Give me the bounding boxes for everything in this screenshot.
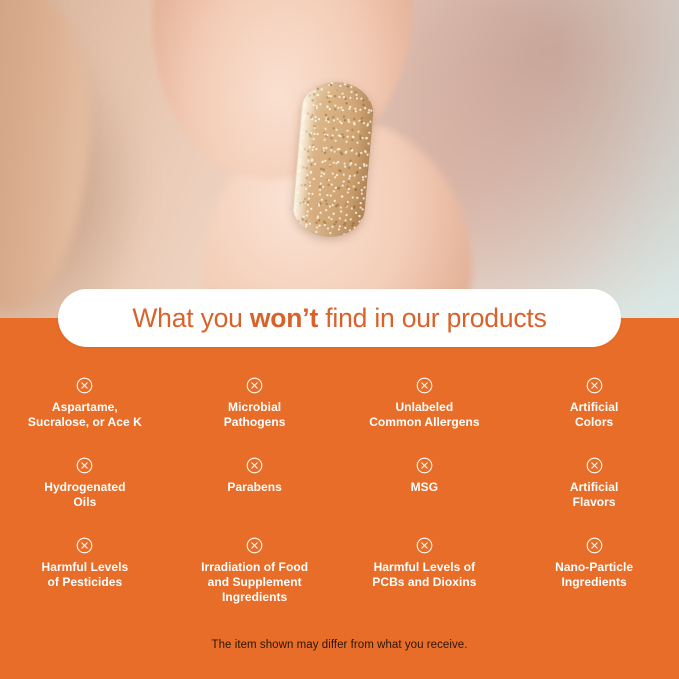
excluded-item-label: MSG (411, 480, 438, 495)
supplement-tablet (290, 79, 375, 240)
excluded-item: Nano-Particle Ingredients (509, 530, 679, 610)
excluded-item: Hydrogenated Oils (0, 450, 170, 530)
excluded-item-label: Aspartame, Sucralose, or Ace K (28, 400, 142, 430)
excluded-item: Microbial Pathogens (170, 370, 340, 450)
x-circle-icon (246, 457, 263, 474)
x-circle-icon (416, 377, 433, 394)
excluded-item: Harmful Levels of Pesticides (0, 530, 170, 610)
excluded-item-label: Harmful Levels of Pesticides (42, 560, 129, 590)
page-title: What you won’t find in our products (132, 303, 546, 334)
excluded-item-label: Parabens (227, 480, 281, 495)
x-circle-icon (76, 377, 93, 394)
x-circle-icon (586, 377, 603, 394)
title-emphasis: won’t (250, 303, 318, 333)
x-circle-icon (246, 377, 263, 394)
excluded-item-label: Harmful Levels of PCBs and Dioxins (372, 560, 476, 590)
x-circle-icon (246, 537, 263, 554)
excluded-item: Irradiation of Food and Supplement Ingre… (170, 530, 340, 610)
excluded-item-label: Hydrogenated Oils (44, 480, 125, 510)
excluded-item: Artificial Flavors (509, 450, 679, 530)
x-circle-icon (586, 457, 603, 474)
product-photo (0, 0, 679, 318)
excluded-item-label: Irradiation of Food and Supplement Ingre… (201, 560, 308, 605)
title-prefix: What you (132, 303, 250, 333)
x-circle-icon (416, 537, 433, 554)
excluded-item-label: Artificial Colors (570, 400, 619, 430)
x-circle-icon (416, 457, 433, 474)
excluded-item: MSG (340, 450, 510, 530)
excluded-item: Aspartame, Sucralose, or Ace K (0, 370, 170, 450)
excluded-item-label: Nano-Particle Ingredients (555, 560, 633, 590)
x-circle-icon (76, 457, 93, 474)
disclaimer-text: The item shown may differ from what you … (0, 639, 679, 651)
product-infographic-canvas: What you won’t find in our products Aspa… (0, 0, 679, 679)
title-suffix: find in our products (318, 303, 547, 333)
excluded-item: Harmful Levels of PCBs and Dioxins (340, 530, 510, 610)
excluded-item-label: Unlabeled Common Allergens (369, 400, 479, 430)
title-pill: What you won’t find in our products (58, 289, 621, 347)
excluded-item: Artificial Colors (509, 370, 679, 450)
excluded-item: Unlabeled Common Allergens (340, 370, 510, 450)
excluded-item: Parabens (170, 450, 340, 530)
excluded-item-label: Microbial Pathogens (224, 400, 286, 430)
x-circle-icon (586, 537, 603, 554)
excluded-item-label: Artificial Flavors (570, 480, 619, 510)
excluded-ingredients-grid: Aspartame, Sucralose, or Ace KMicrobial … (0, 370, 679, 610)
x-circle-icon (76, 537, 93, 554)
